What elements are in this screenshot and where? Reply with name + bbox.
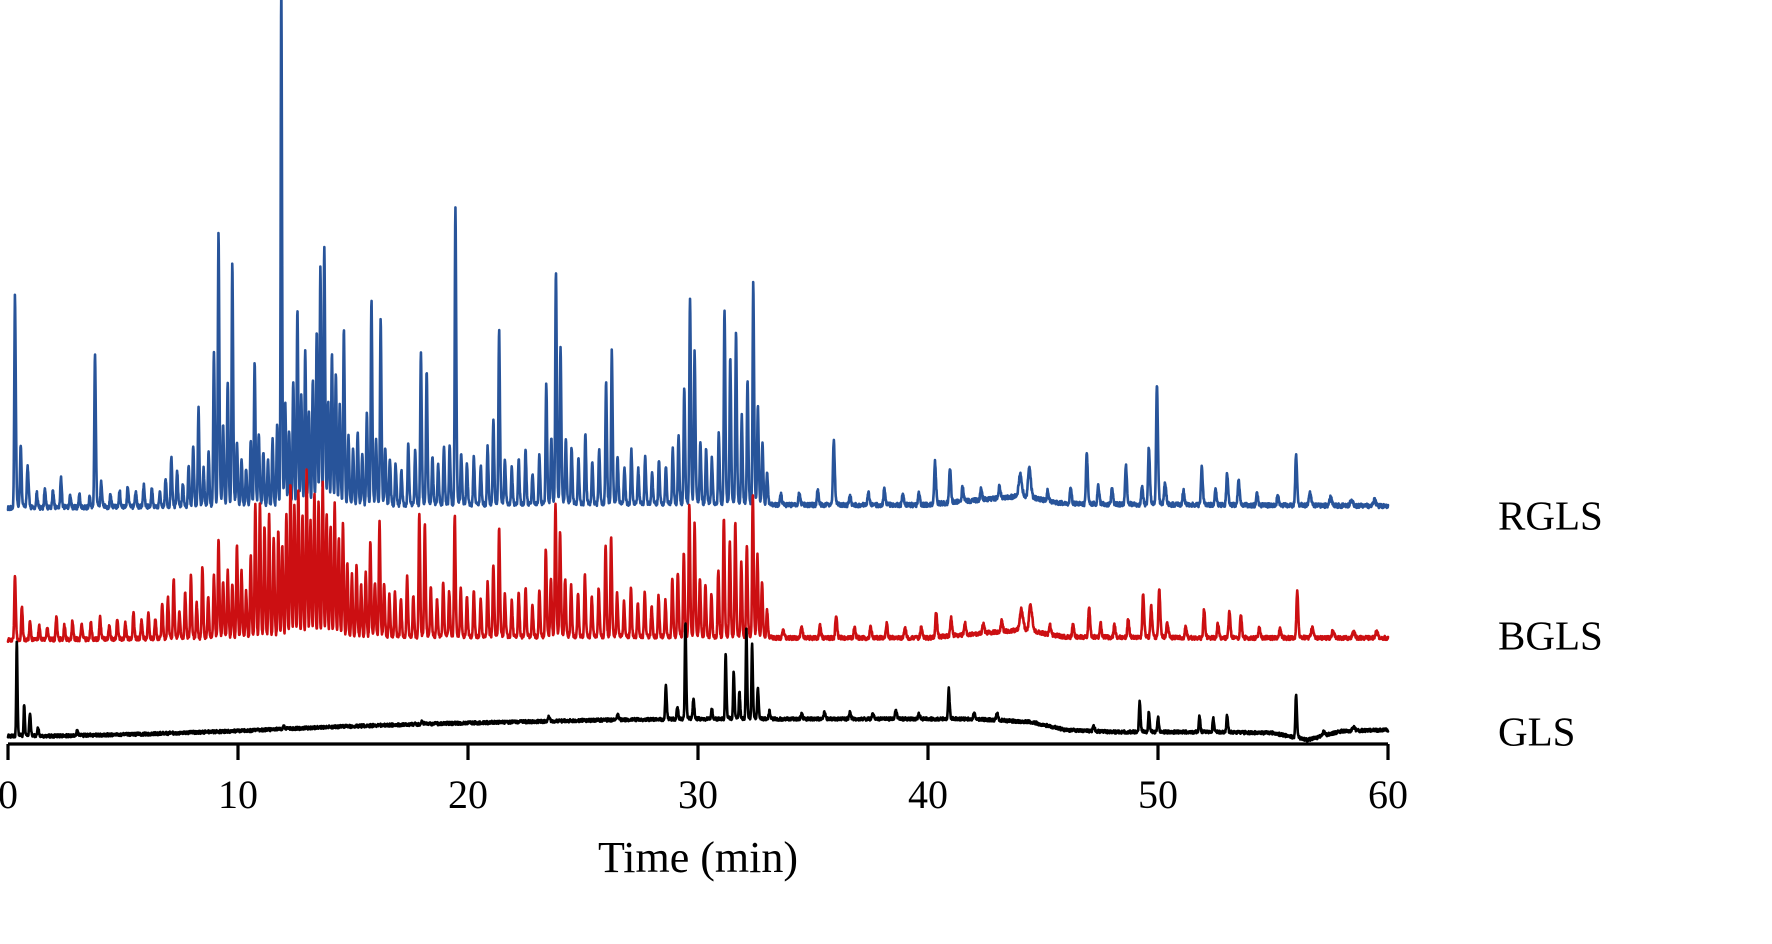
series-label-rgls: RGLS (1498, 492, 1603, 538)
x-tick-label-20: 20 (448, 772, 488, 817)
chromatogram-svg: 0102030405060 RGLSBGLSGLS Time (min) (0, 0, 1772, 944)
x-tick-label-30: 30 (678, 772, 718, 817)
x-tick-label-60: 60 (1368, 772, 1408, 817)
x-axis-title: Time (min) (598, 833, 798, 882)
figure-background (0, 0, 1772, 944)
x-tick-label-50: 50 (1138, 772, 1178, 817)
series-label-gls: GLS (1498, 708, 1575, 754)
x-tick-label-40: 40 (908, 772, 948, 817)
chromatogram-figure: 0102030405060 RGLSBGLSGLS Time (min) (0, 0, 1772, 944)
x-tick-label-10: 10 (218, 772, 258, 817)
x-tick-label-0: 0 (0, 772, 18, 817)
series-label-bgls: BGLS (1498, 612, 1603, 658)
